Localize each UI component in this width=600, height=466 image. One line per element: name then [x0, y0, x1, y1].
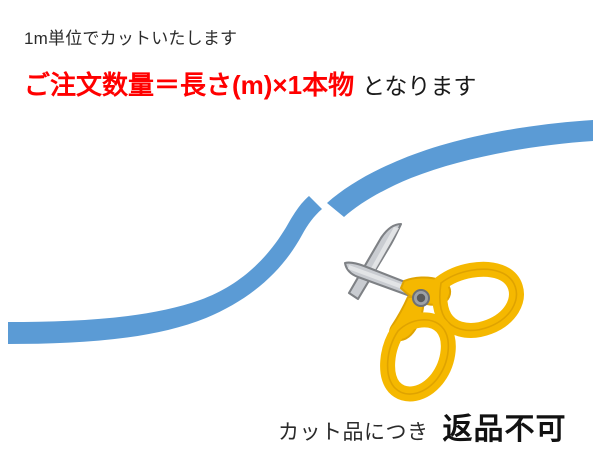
scissors-pivot-center: [417, 294, 425, 302]
scissors-handle-right: [440, 269, 517, 330]
no-return-emphasis: 返品不可: [443, 413, 567, 446]
no-return-note: カット品につき返品不可: [278, 414, 567, 446]
no-return-prefix: カット品につき: [278, 421, 429, 444]
scissors-icon: [345, 224, 516, 394]
order-quantity-formula: ご注文数量＝長さ(m)×1本物: [24, 70, 354, 100]
blue-cable-left-segment: [8, 196, 322, 344]
order-quantity-suffix: となります: [362, 73, 476, 99]
order-quantity-note: ご注文数量＝長さ(m)×1本物となります: [24, 72, 476, 99]
scissors-handle-lower: [388, 320, 449, 394]
slide-canvas: 1m単位でカットいたします ご注文数量＝長さ(m)×1本物となります カット品に…: [0, 0, 600, 466]
cut-unit-note: 1m単位でカットいたします: [24, 30, 237, 47]
blue-cable-right-segment: [327, 120, 593, 217]
